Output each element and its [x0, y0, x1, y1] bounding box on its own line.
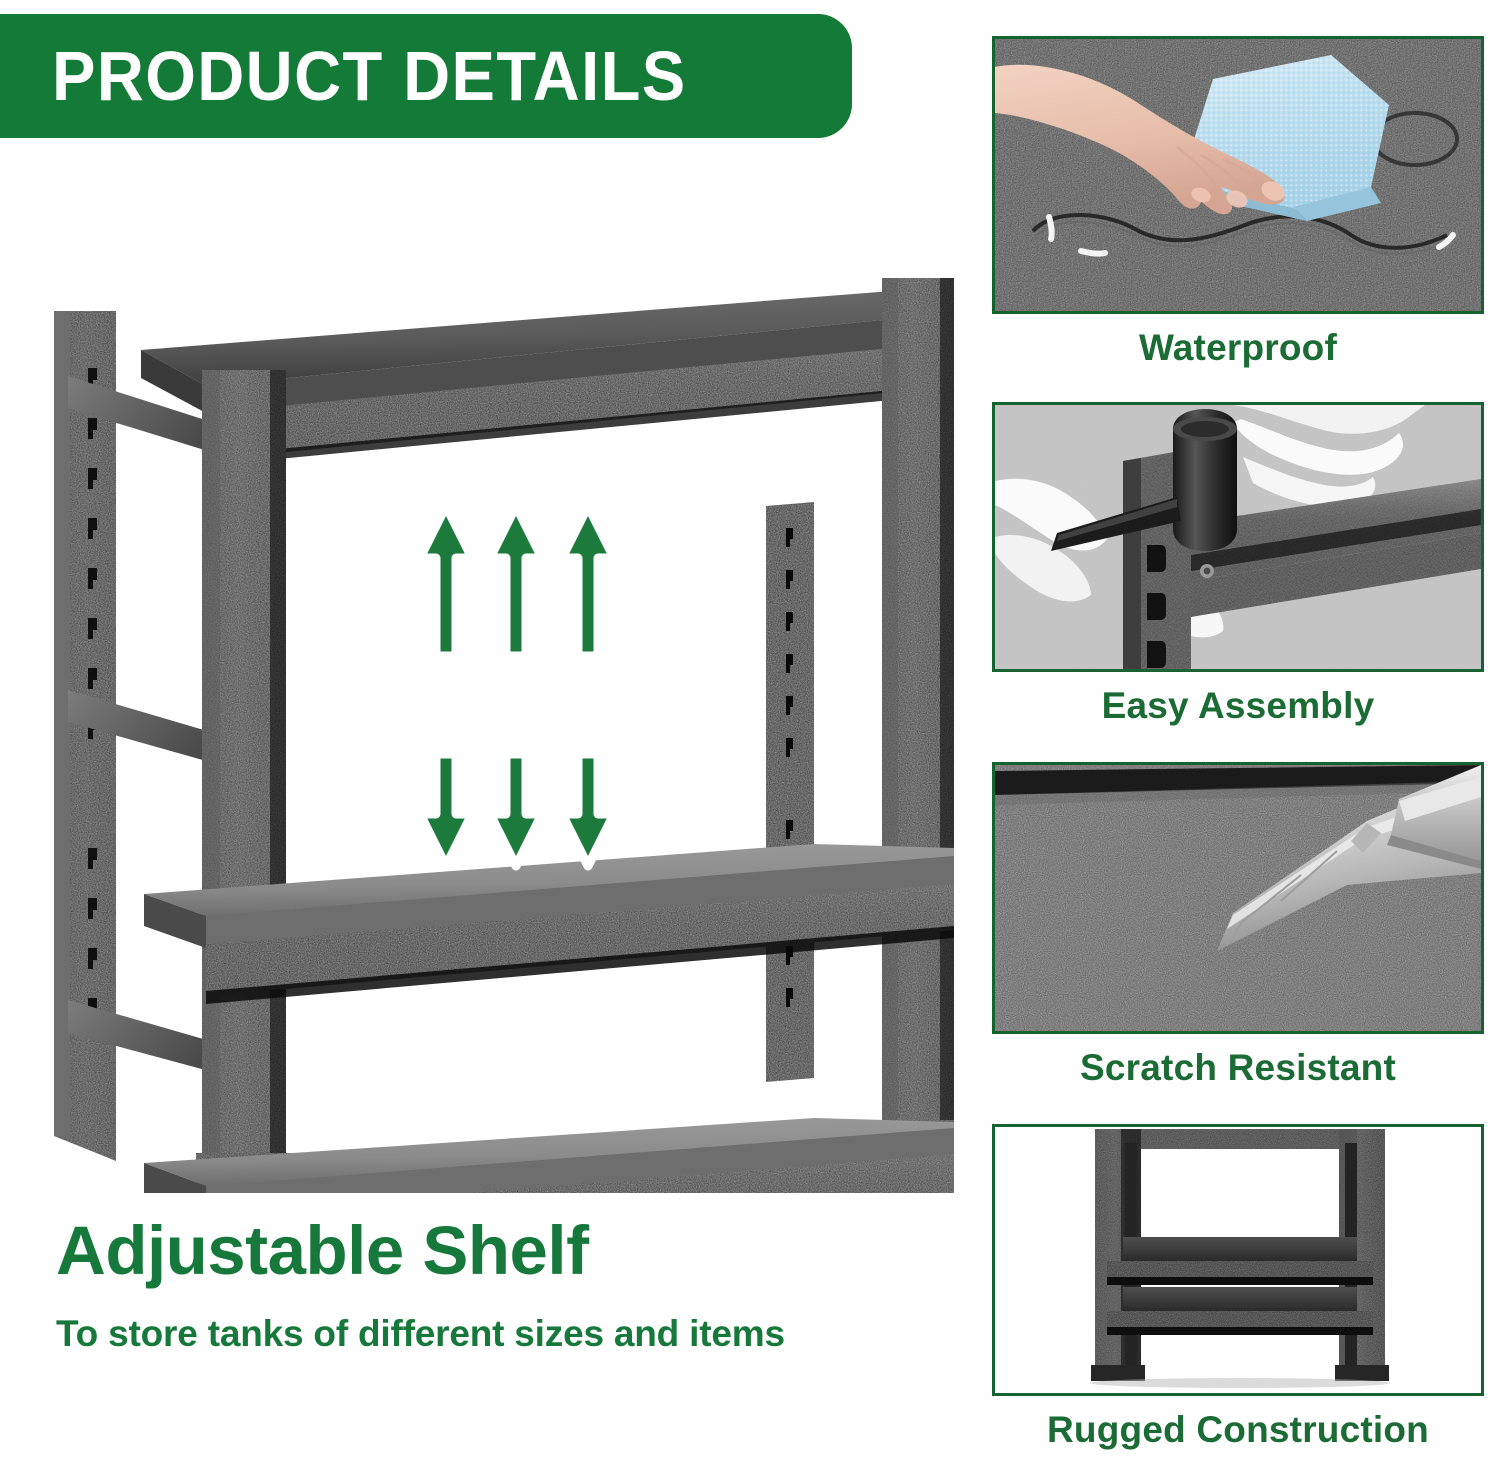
feature-label-scratch-resistant: Scratch Resistant: [992, 1047, 1484, 1089]
adjustment-arrows-down: [420, 754, 614, 866]
easy-assembly-photo: [995, 405, 1481, 669]
feature-label-easy-assembly: Easy Assembly: [992, 685, 1484, 727]
arrow-up-2: [490, 506, 542, 656]
arrow-down-2: [490, 754, 542, 866]
arrow-up-1: [420, 506, 472, 656]
feature-label-waterproof: Waterproof: [992, 327, 1484, 369]
arrow-up-3: [562, 506, 614, 656]
arrow-down-3: [562, 754, 614, 866]
feature-card-rugged-construction: Rugged Construction: [992, 1124, 1484, 1451]
shelf-post-rear-right: [766, 502, 814, 1082]
scratch-resistant-photo: [995, 765, 1481, 1031]
waterproof-photo: [995, 39, 1481, 311]
shelf-post-front-left: [196, 370, 292, 1192]
caption-headline: Adjustable Shelf: [56, 1215, 936, 1287]
feature-image-frame-easy-assembly: [992, 402, 1484, 672]
feature-image-frame-rugged-construction: [992, 1124, 1484, 1396]
feature-card-scratch-resistant: Scratch Resistant: [992, 762, 1484, 1089]
feature-card-easy-assembly: Easy Assembly: [992, 402, 1484, 727]
caption-block: Adjustable Shelf To store tanks of diffe…: [56, 1215, 936, 1355]
header-banner: PRODUCT DETAILS: [0, 14, 852, 138]
feature-column: Waterproof: [992, 36, 1484, 1436]
rugged-construction-photo: [995, 1127, 1481, 1393]
feature-image-frame-scratch-resistant: [992, 762, 1484, 1034]
feature-card-waterproof: Waterproof: [992, 36, 1484, 369]
shelf-post-front-right: [876, 278, 954, 1158]
caption-subtext: To store tanks of different sizes and it…: [56, 1313, 936, 1355]
adjustment-arrows-up: [420, 506, 614, 656]
page-title: PRODUCT DETAILS: [52, 41, 687, 111]
product-details-infographic: PRODUCT DETAILS: [0, 0, 1500, 1460]
arrow-down-1: [420, 754, 472, 866]
feature-label-rugged-construction: Rugged Construction: [992, 1409, 1484, 1451]
adjustable-shelf-illustration: [24, 258, 954, 1193]
feature-image-frame-waterproof: [992, 36, 1484, 314]
